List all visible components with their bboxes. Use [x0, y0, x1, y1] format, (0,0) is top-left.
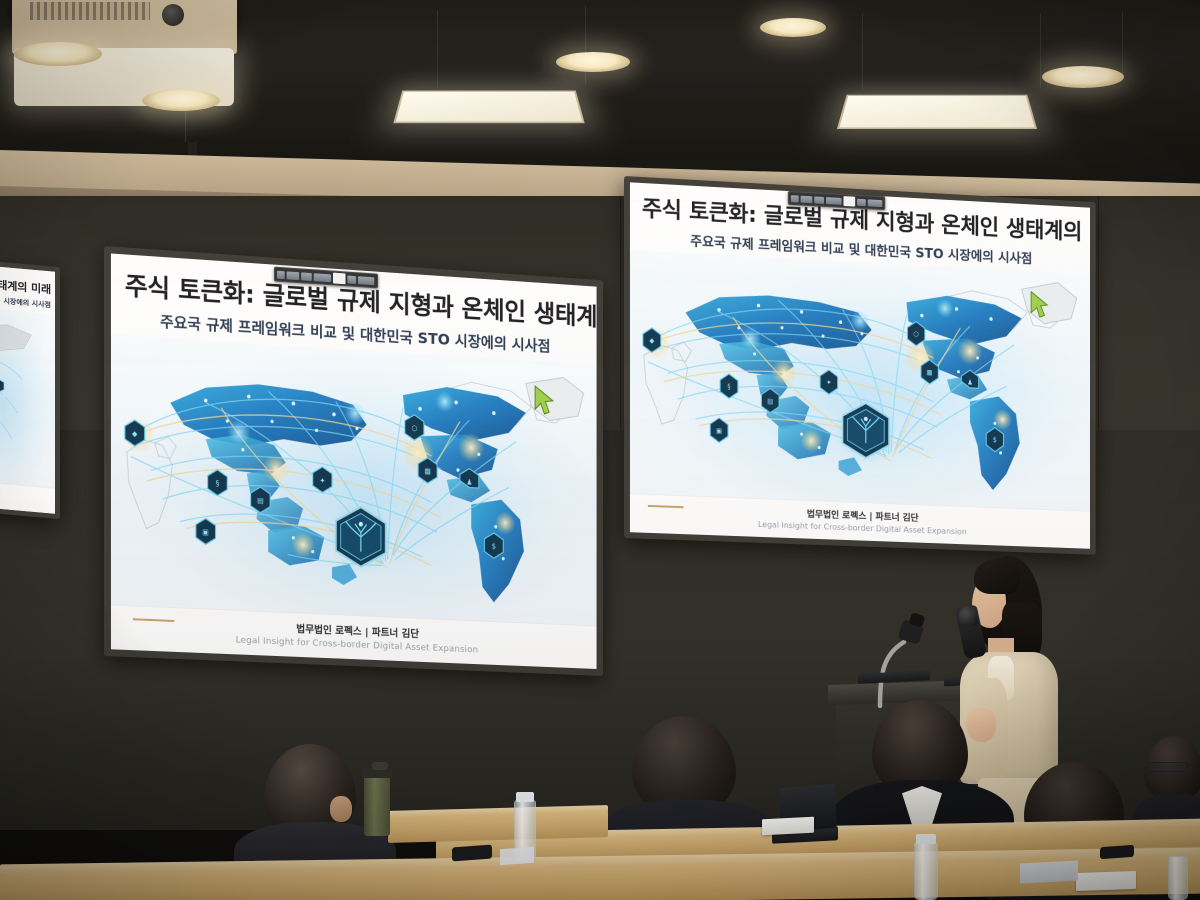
ceiling-wire [1122, 12, 1123, 74]
slide-title-part3: 온체인 생태계의 미래 [454, 293, 597, 335]
projector-vent [30, 2, 150, 20]
slide-world-map: ◆ § ▤ ▣ ✦ ⬡ ▦ ♟ $ [111, 334, 597, 625]
svg-text:▦: ▦ [425, 466, 431, 475]
svg-text:▣: ▣ [716, 427, 722, 435]
svg-text:⬡: ⬡ [913, 330, 919, 338]
svg-text:◆: ◆ [132, 429, 138, 439]
projection-screen-left-partial: 인 생태계의 미래 시장에의 시사점 [0, 257, 60, 519]
presentation-slide-main: 주식 토큰화: 글로벌 규제 지형과 온체인 생태계의 미래 주요국 규제 프레… [111, 253, 597, 669]
audience-ear [330, 796, 352, 822]
presenter-hair-front [974, 558, 1020, 594]
ceiling-downlight [556, 52, 630, 72]
slide-title-part2: 규제 지형과 [337, 286, 454, 322]
document-paper [1020, 860, 1078, 883]
bottle-cap [516, 792, 534, 802]
smartphone[interactable] [452, 845, 492, 862]
ceiling-wire [1040, 14, 1041, 88]
svg-text:§: § [216, 478, 220, 487]
world-map-svg-left [0, 305, 55, 487]
ceiling-wire [585, 6, 586, 84]
svg-text:⬡: ⬡ [411, 423, 417, 432]
smartphone[interactable] [1100, 845, 1134, 859]
tumbler-handle [372, 762, 388, 770]
svg-text:◆: ◆ [649, 337, 655, 346]
ceiling-panel-light [837, 95, 1037, 129]
bottle-cap [916, 834, 936, 844]
projector-lens-icon [162, 4, 184, 26]
svg-text:✦: ✦ [320, 475, 326, 485]
slide-right-title-part2: 규제 지형과 [830, 207, 934, 237]
svg-text:▣: ▣ [202, 527, 208, 537]
ceiling-panel-light [393, 90, 584, 123]
slide-right-world-map: ◆§ ▤▣ ✦⬡ ▦♟ $ [630, 251, 1090, 511]
eyeglasses-icon [1148, 762, 1188, 772]
ceiling-downlight [760, 18, 826, 37]
world-map-network-svg-right: ◆§ ▤▣ ✦⬡ ▦♟ $ [630, 251, 1090, 511]
name-card [1076, 871, 1136, 891]
projection-screen-right: 주식 토큰화: 글로벌 규제 지형과 온체인 생태계의 미래 주요국 규제 프레… [624, 176, 1096, 555]
svg-text:▦: ▦ [927, 369, 933, 377]
presentation-slide-right: 주식 토큰화: 글로벌 규제 지형과 온체인 생태계의 미래 주요국 규제 프레… [630, 182, 1090, 548]
ceiling-downlight [1042, 66, 1124, 88]
ceiling-wire [437, 10, 438, 88]
svg-text:▤: ▤ [257, 495, 263, 505]
slide-left-title-fragment: 인 생태계의 미래 [0, 273, 51, 298]
svg-text:$: $ [492, 541, 497, 550]
world-map-network-svg: ◆ § ▤ ▣ ✦ ⬡ ▦ ♟ $ [111, 334, 597, 625]
green-tumbler [364, 774, 390, 836]
water-bottle [914, 842, 938, 900]
name-card [762, 817, 814, 836]
water-bottle [1168, 856, 1188, 900]
seminar-room-photo: 인 생태계의 미래 시장에의 시사점 [0, 0, 1200, 900]
projection-screen-main: 주식 토큰화: 글로벌 규제 지형과 온체인 생태계의 미래 주요국 규제 프레… [104, 246, 603, 676]
svg-text:$: $ [993, 436, 997, 444]
ceiling-wire [862, 14, 863, 90]
svg-text:♟: ♟ [466, 477, 472, 486]
gooseneck-microphone [866, 598, 936, 708]
ceiling-downlight [14, 42, 102, 66]
slide-left-map [0, 305, 55, 487]
slide-right-title-part3: 온체인 생태계의 미래 [934, 213, 1090, 248]
ceiling-downlight [142, 90, 220, 111]
svg-text:▤: ▤ [767, 397, 773, 405]
document-paper [500, 847, 534, 865]
svg-text:♟: ♟ [967, 379, 973, 387]
svg-text:✦: ✦ [826, 379, 832, 387]
